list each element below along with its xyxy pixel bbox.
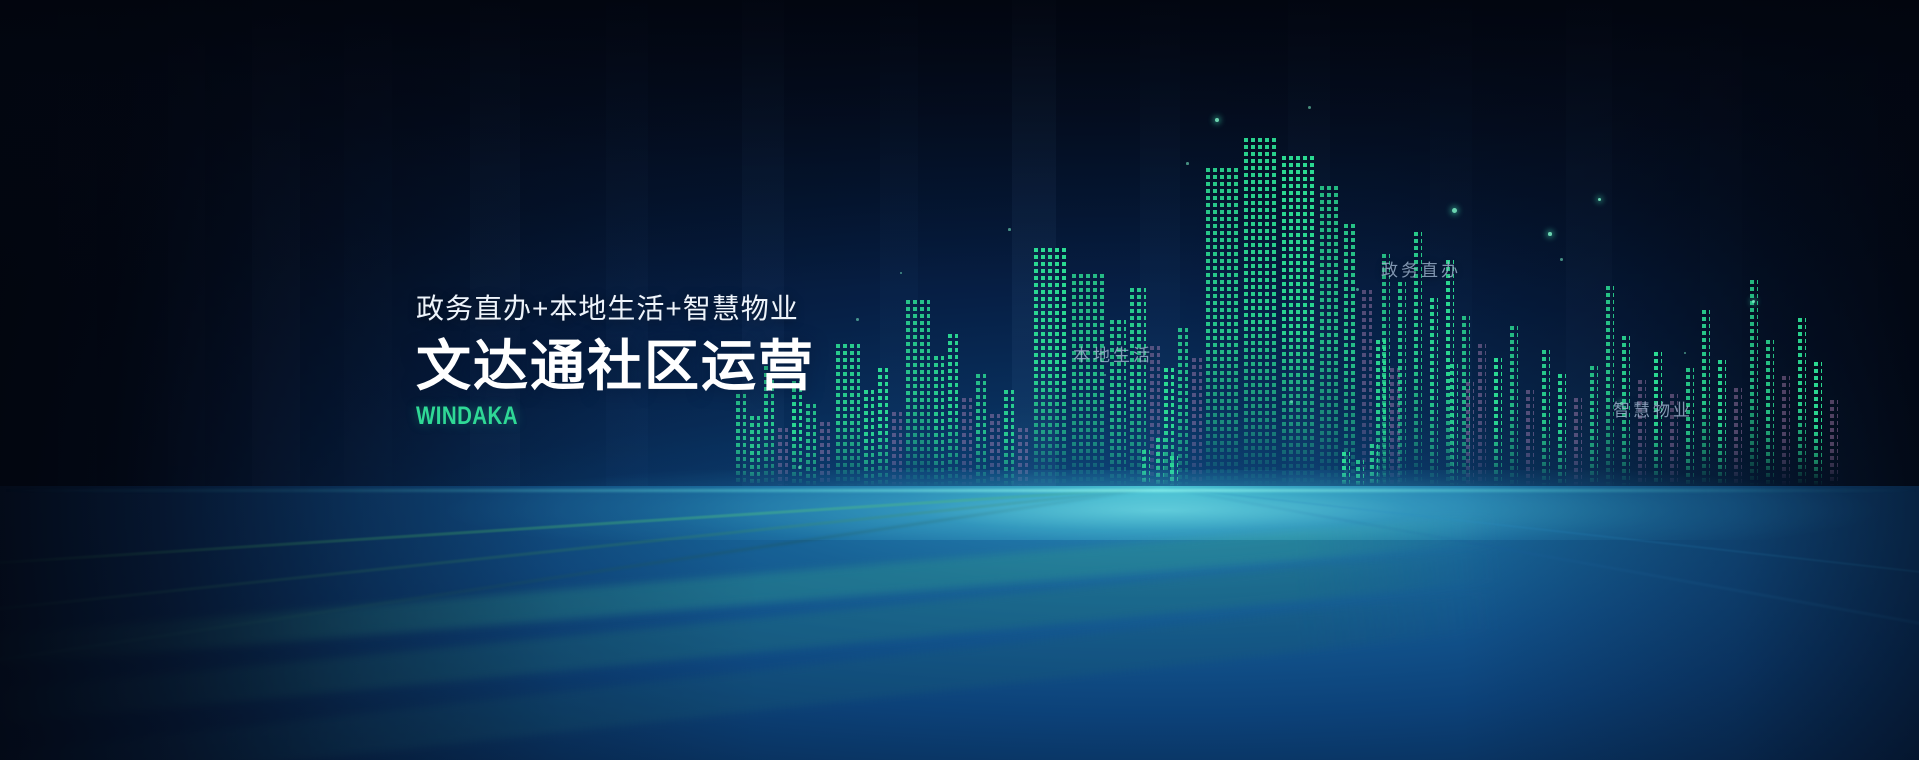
skyline-bar xyxy=(1702,310,1710,486)
skyline-bar xyxy=(1192,358,1202,486)
skyline-bar xyxy=(1750,280,1758,486)
skyline-bar xyxy=(1558,374,1566,486)
skyline-bar xyxy=(1606,286,1614,486)
skyline-bar xyxy=(1320,186,1340,486)
skyline-bar xyxy=(1018,428,1028,486)
skyline-bar xyxy=(1370,444,1378,486)
skyline-bar xyxy=(1478,344,1486,486)
skyline-bar xyxy=(1718,360,1726,486)
ground-left-fade xyxy=(0,486,760,760)
skyline-bar xyxy=(1430,298,1438,486)
skyline-bar xyxy=(1782,376,1790,486)
skyline-bar xyxy=(1282,156,1316,486)
category-label-2: 本地生活 xyxy=(1073,341,1153,366)
hero-banner: 政务直办本地生活智慧物业 政务直办+本地生活+智慧物业 文达通社区运营 WIND… xyxy=(0,0,1919,760)
skyline-bar xyxy=(1398,282,1406,486)
skyline-bar xyxy=(1450,364,1458,486)
category-label-1: 政务直办 xyxy=(1381,256,1461,281)
category-label-3: 智慧物业 xyxy=(1613,396,1693,421)
ground-right-fade xyxy=(1459,486,1919,760)
hero-copy-block: 政务直办+本地生活+智慧物业 文达通社区运营 WINDAKA xyxy=(416,292,1056,431)
skyline-bar xyxy=(1244,138,1278,486)
skyline-bar xyxy=(1526,390,1534,486)
skyline-bar xyxy=(1342,452,1350,486)
hero-subtitle: 政务直办+本地生活+智慧物业 xyxy=(416,292,1056,326)
skyline-bar xyxy=(1170,456,1178,486)
skyline-bar xyxy=(1830,400,1838,486)
skyline-bar xyxy=(1156,438,1164,486)
hero-headline: 文达通社区运营 xyxy=(416,336,1056,398)
skyline-bar xyxy=(1142,450,1150,486)
skyline-bar xyxy=(1686,368,1694,486)
skyline-bar xyxy=(1766,340,1774,486)
skyline-bar xyxy=(1590,366,1598,486)
skyline-bar xyxy=(1510,326,1518,486)
perspective-ground xyxy=(0,486,1919,760)
brand-wordmark: WINDAKA xyxy=(416,403,941,431)
skyline-bar xyxy=(1206,168,1240,486)
skyline-bar xyxy=(1178,328,1188,486)
skyline-bar xyxy=(1494,358,1502,486)
skyline-bar xyxy=(1574,398,1582,486)
skyline-bar xyxy=(1344,224,1358,486)
skyline-bar xyxy=(1382,254,1390,486)
skyline-bar xyxy=(1798,318,1806,486)
skyline-bar xyxy=(1542,350,1550,486)
skyline-bar xyxy=(1814,362,1822,486)
skyline-bar xyxy=(1356,460,1364,486)
skyline-bar xyxy=(820,422,830,486)
skyline-bar xyxy=(1734,388,1742,486)
skyline-bar xyxy=(1466,382,1474,486)
skyline-bar xyxy=(1072,274,1106,486)
skyline-bar xyxy=(778,428,788,486)
